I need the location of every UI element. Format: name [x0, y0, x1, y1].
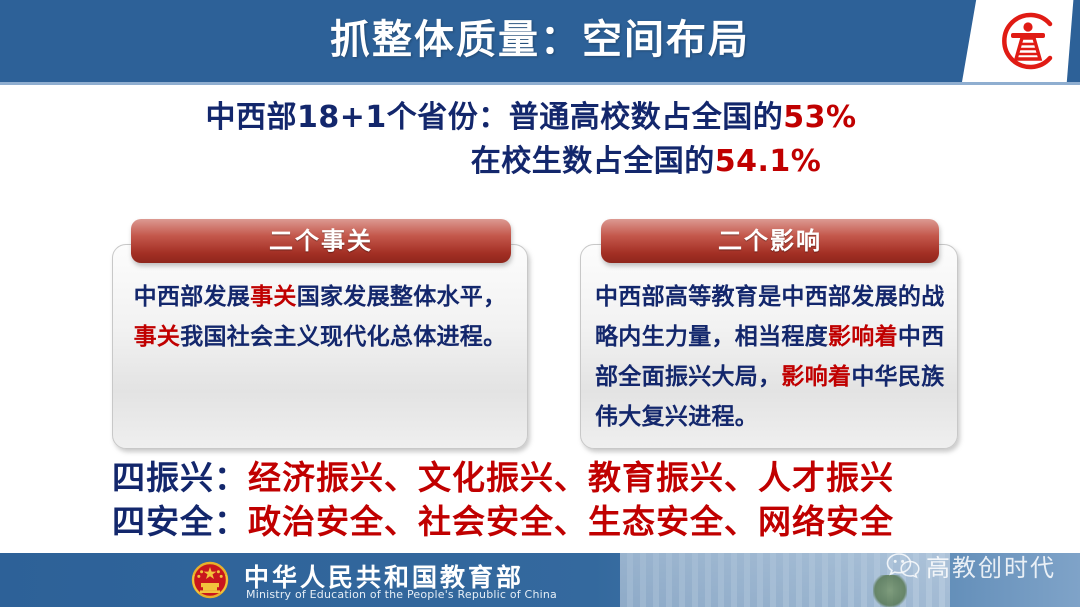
text-run-3: 影响着: [781, 364, 851, 390]
text-run-1: 事关: [250, 284, 297, 310]
footer-title-en: Ministry of Education of the People's Re…: [246, 588, 557, 601]
text-run-1: 影响着: [828, 324, 898, 350]
text-run-3: 事关: [134, 324, 181, 350]
watermark-label: 高教创时代: [926, 548, 1056, 583]
slogan-items-revitalization: 经济振兴、文化振兴、教育振兴、人才振兴: [248, 458, 894, 497]
panel-header-two-impacts: 二个影响: [601, 219, 939, 263]
university-emblem-icon: [994, 7, 1062, 75]
subtitle-line-1-highlight: 53%: [783, 100, 856, 135]
text-run-4: 我国社会主义现代化总体进程。: [180, 324, 506, 350]
subtitle-line-1-text: 中西部18+1个省份：普通高校数占全国的: [205, 100, 783, 135]
text-run-0: 中西部发展: [134, 284, 251, 310]
panel-two-matters: 二个事关 中西部发展事关国家发展整体水平，事关我国社会主义现代化总体进程。: [112, 244, 528, 449]
title-bar: 抓整体质量：空间布局: [0, 0, 1080, 82]
subtitle-line-2-text: 在校生数占全国的: [471, 144, 715, 179]
slogan-items-security: 政治安全、社会安全、生态安全、网络安全: [248, 502, 894, 541]
subtitle-line-2-highlight: 54.1%: [715, 144, 822, 179]
watermark: 高教创时代: [886, 548, 1056, 583]
slogan-label-security: 四安全：: [112, 502, 248, 541]
slide-canvas: 抓整体质量：空间布局 中西部18+1个省份：普通高校数占全国的53% 在校生数占…: [0, 0, 1080, 607]
panel-body-two-impacts: 中西部高等教育是中西部发展的战略内生力量，相当程度影响着中西部全面振兴大局，影响…: [581, 271, 957, 437]
national-emblem-icon: [188, 557, 232, 603]
subtitle-block: 中西部18+1个省份：普通高校数占全国的53% 在校生数占全国的54.1%: [0, 96, 1080, 184]
slogan-line-security: 四安全：政治安全、社会安全、生态安全、网络安全: [112, 500, 972, 544]
slogan-block: 四振兴：经济振兴、文化振兴、教育振兴、人才振兴 四安全：政治安全、社会安全、生态…: [112, 456, 972, 544]
slogan-label-revitalization: 四振兴：: [112, 458, 248, 497]
slogan-line-revitalization: 四振兴：经济振兴、文化振兴、教育振兴、人才振兴: [112, 456, 972, 500]
panel-body-two-matters: 中西部发展事关国家发展整体水平，事关我国社会主义现代化总体进程。: [113, 271, 527, 357]
title-bar-underline: [0, 82, 1080, 85]
panel-header-two-matters: 二个事关: [131, 219, 511, 263]
panel-two-impacts: 二个影响 中西部高等教育是中西部发展的战略内生力量，相当程度影响着中西部全面振兴…: [580, 244, 958, 449]
text-run-2: 国家发展整体水平，: [297, 284, 507, 310]
wechat-icon: [886, 551, 920, 581]
subtitle-line-2: 在校生数占全国的54.1%: [0, 140, 1080, 184]
page-title: 抓整体质量：空间布局: [0, 0, 1080, 82]
subtitle-line-1: 中西部18+1个省份：普通高校数占全国的53%: [0, 96, 1080, 140]
